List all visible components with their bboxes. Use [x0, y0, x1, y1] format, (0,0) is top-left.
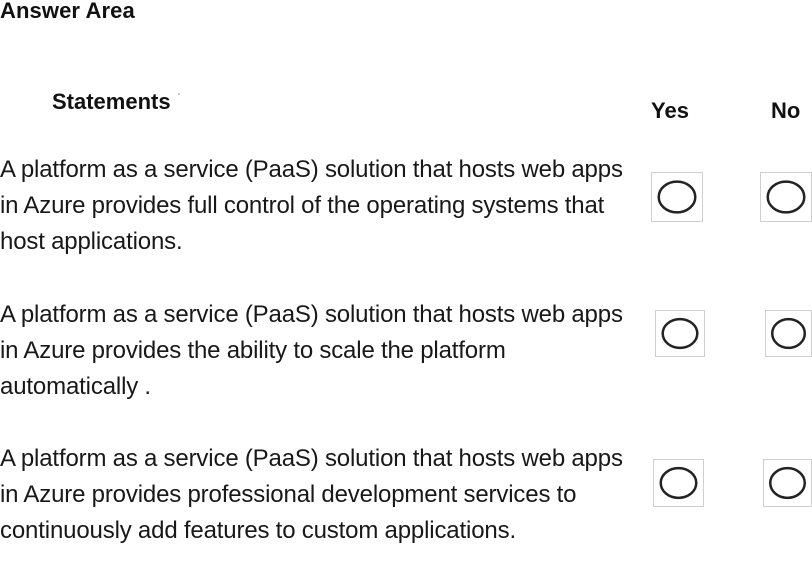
statement-text: A platform as a service (PaaS) solution … [0, 297, 640, 405]
radio-button-unselected-icon [652, 173, 702, 221]
radio-button-unselected-icon [764, 460, 811, 506]
statement-text: A platform as a service (PaaS) solution … [0, 152, 640, 260]
column-header-statements: Statements [52, 89, 180, 115]
radio-no-row-3[interactable] [763, 459, 812, 507]
radio-button-unselected-icon [761, 173, 811, 221]
radio-button-unselected-icon [766, 311, 811, 356]
statement-text: A platform as a service (PaaS) solution … [0, 441, 640, 549]
radio-yes-row-3[interactable] [653, 459, 704, 507]
page-title: Answer Area [0, 0, 135, 24]
scan-artifact-dot [178, 93, 180, 95]
answer-area-page: { "page": { "title": "Answer Area", "bac… [0, 0, 812, 581]
radio-button-unselected-icon [656, 311, 704, 356]
column-header-yes: Yes [651, 98, 689, 124]
radio-yes-row-1[interactable] [651, 172, 703, 222]
radio-no-row-1[interactable] [760, 172, 812, 222]
column-header-statements-label: Statements [52, 89, 171, 114]
column-header-no: No [771, 98, 800, 124]
radio-no-row-2[interactable] [765, 310, 812, 357]
radio-yes-row-2[interactable] [655, 310, 705, 357]
radio-button-unselected-icon [654, 460, 703, 506]
